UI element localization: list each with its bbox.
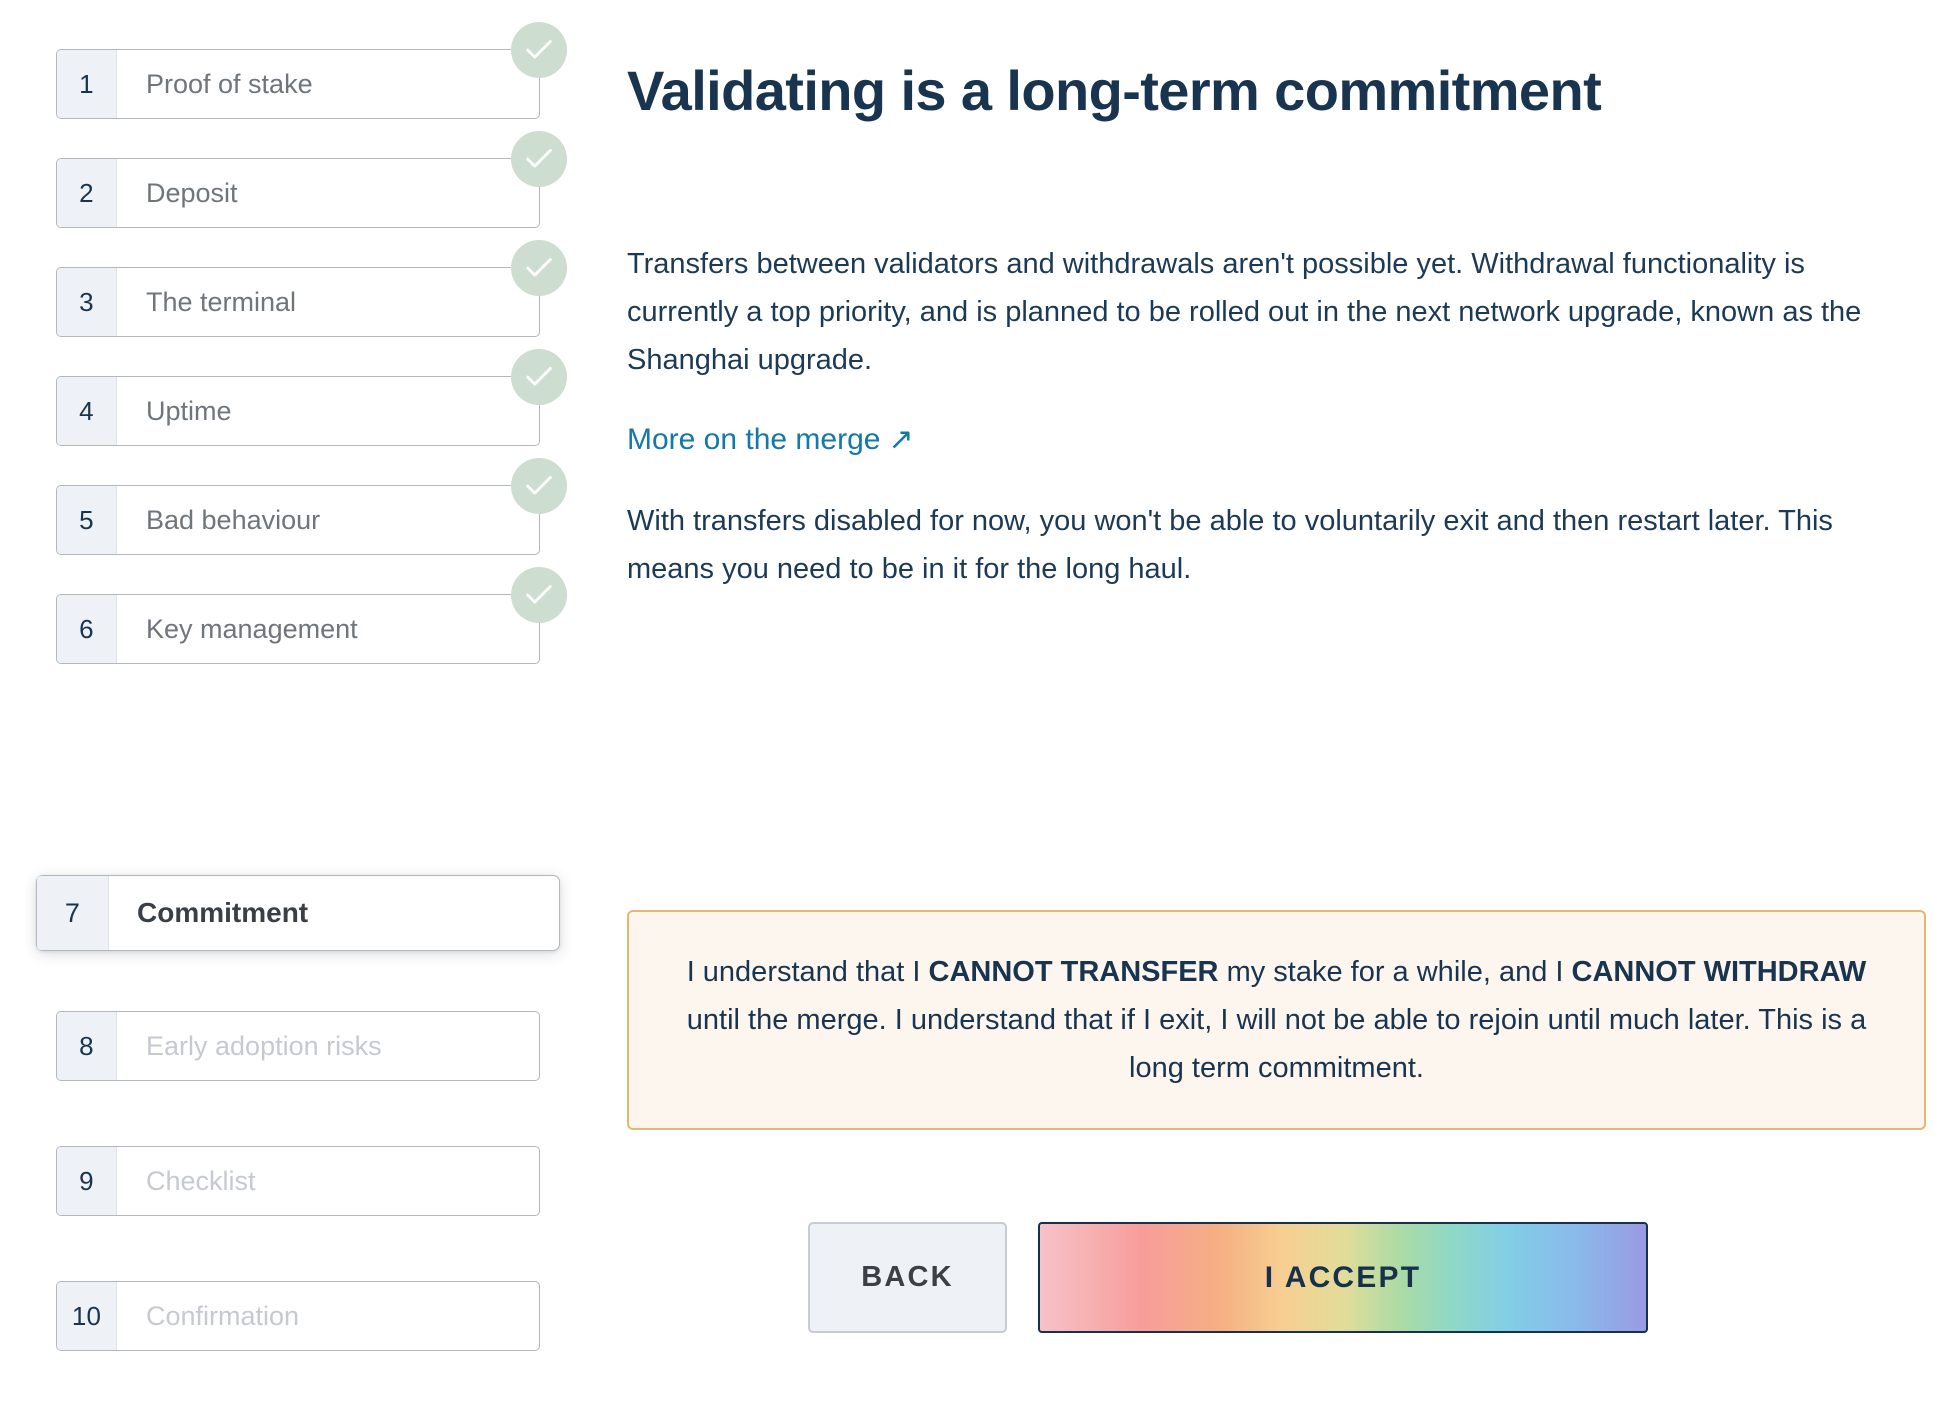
step-label: Proof of stake <box>117 50 539 118</box>
acceptance-statement-text: I understand that I CANNOT TRANSFER my s… <box>671 948 1882 1092</box>
footer-actions: BACK I ACCEPT <box>808 1222 1648 1333</box>
acceptance-part-2: my stake for a while, and I <box>1219 956 1572 988</box>
sidebar-item-checklist[interactable]: 9 Checklist <box>56 1146 540 1216</box>
back-button[interactable]: BACK <box>808 1222 1007 1333</box>
intro-paragraph: Transfers between validators and withdra… <box>627 240 1909 384</box>
acceptance-statement-box: I understand that I CANNOT TRANSFER my s… <box>627 910 1926 1130</box>
step-number: 5 <box>57 486 117 554</box>
long-haul-paragraph: With transfers disabled for now, you won… <box>627 497 1909 593</box>
step-number: 8 <box>57 1012 117 1080</box>
step-label: Early adoption risks <box>117 1012 539 1080</box>
sidebar-item-bad-behaviour[interactable]: 5 Bad behaviour <box>56 485 540 555</box>
acceptance-bold-cannot-withdraw: CANNOT WITHDRAW <box>1572 956 1867 988</box>
acceptance-bold-cannot-transfer: CANNOT TRANSFER <box>929 956 1219 988</box>
check-icon <box>511 240 567 296</box>
external-link-arrow-icon: ↗ <box>888 420 913 460</box>
step-label: Deposit <box>117 159 539 227</box>
sidebar-item-early-adoption-risks[interactable]: 8 Early adoption risks <box>56 1011 540 1081</box>
more-on-the-merge-link[interactable]: More on the merge ↗ <box>627 420 914 460</box>
sidebar-item-key-management[interactable]: 6 Key management <box>56 594 540 664</box>
step-label: Confirmation <box>117 1282 539 1350</box>
sidebar-item-commitment[interactable]: 7 Commitment <box>36 875 560 951</box>
sidebar-item-deposit[interactable]: 2 Deposit <box>56 158 540 228</box>
check-icon <box>511 567 567 623</box>
step-number: 2 <box>57 159 117 227</box>
wizard-steps-rail: 1 Proof of stake 2 Deposit 3 The termina… <box>0 0 600 1402</box>
check-icon <box>511 131 567 187</box>
wizard-page: 1 Proof of stake 2 Deposit 3 The termina… <box>0 0 1934 1402</box>
step-number: 6 <box>57 595 117 663</box>
step-label: Uptime <box>117 377 539 445</box>
sidebar-item-confirmation[interactable]: 10 Confirmation <box>56 1281 540 1351</box>
check-icon <box>511 22 567 78</box>
check-icon <box>511 349 567 405</box>
step-number: 10 <box>57 1282 117 1350</box>
step-label: Checklist <box>117 1147 539 1215</box>
acceptance-part-3: until the merge. I understand that if I … <box>687 1004 1866 1084</box>
acceptance-part-1: I understand that I <box>687 956 929 988</box>
step-number: 7 <box>37 876 109 950</box>
step-label: Bad behaviour <box>117 486 539 554</box>
sidebar-item-uptime[interactable]: 4 Uptime <box>56 376 540 446</box>
step-number: 3 <box>57 268 117 336</box>
step-label: Commitment <box>109 876 559 950</box>
step-number: 9 <box>57 1147 117 1215</box>
sidebar-item-the-terminal[interactable]: 3 The terminal <box>56 267 540 337</box>
step-label: The terminal <box>117 268 539 336</box>
main-content: Validating is a long-term commitment Tra… <box>627 0 1934 1402</box>
merge-link-label: More on the merge <box>627 420 880 460</box>
page-title: Validating is a long-term commitment <box>627 60 1887 122</box>
step-label: Key management <box>117 595 539 663</box>
step-number: 1 <box>57 50 117 118</box>
check-icon <box>511 458 567 514</box>
sidebar-item-proof-of-stake[interactable]: 1 Proof of stake <box>56 49 540 119</box>
i-accept-button[interactable]: I ACCEPT <box>1038 1222 1648 1333</box>
step-number: 4 <box>57 377 117 445</box>
